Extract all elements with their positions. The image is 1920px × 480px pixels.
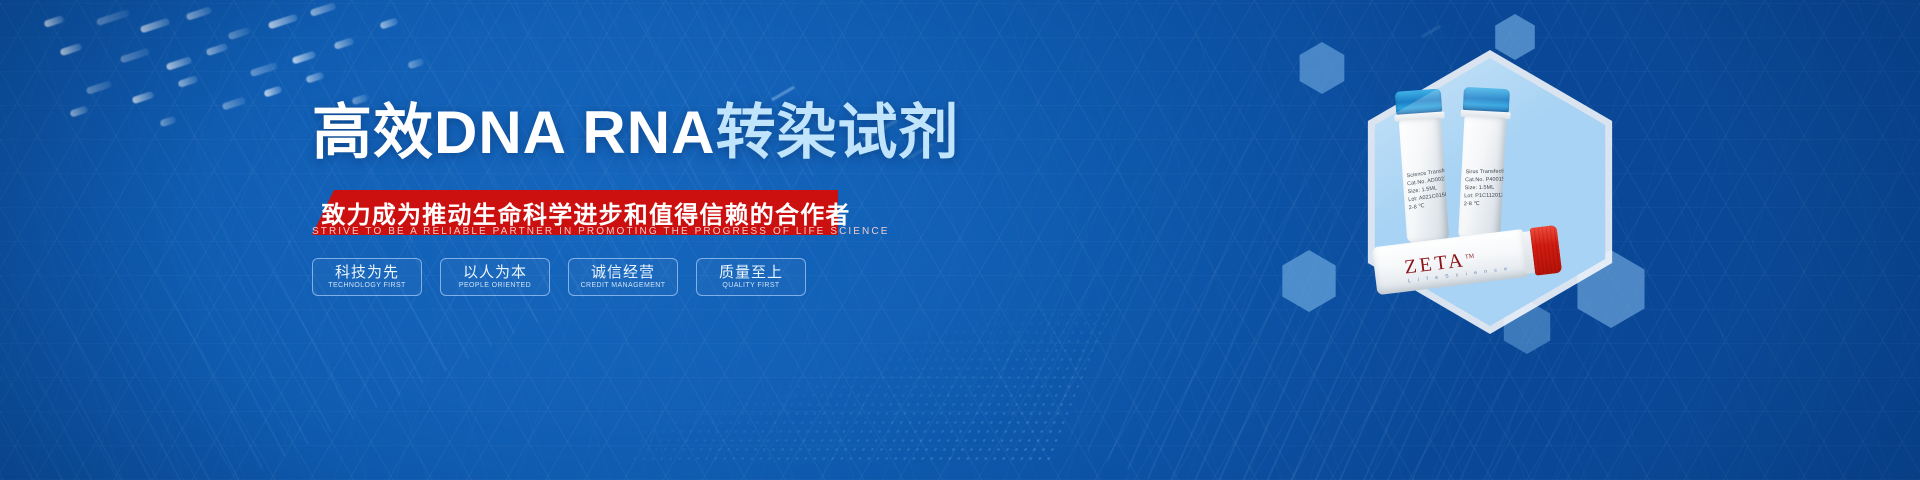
title-segment-cn-suffix: 转染试剂 <box>715 99 959 166</box>
pill-label-en: QUALITY FIRST <box>722 281 779 291</box>
vial-label-left: Science Transfection Cat.No. AD00215 Siz… <box>1406 170 1443 211</box>
vial-label-line: 2-8 ℃ <box>1464 201 1498 209</box>
slogan-en: STRIVE TO BE A RELIABLE PARTNER IN PROMO… <box>312 226 838 237</box>
pill-label-cn: 质量至上 <box>719 264 783 281</box>
pill-label-cn: 以人为本 <box>463 264 527 281</box>
pill-credit-management[interactable]: 诚信经营 CREDIT MANAGEMENT <box>568 258 678 296</box>
product-vials: Science Transfection Cat.No. AD00215 Siz… <box>1356 58 1624 326</box>
vial-label-line: Sirus Transfection <box>1465 169 1499 177</box>
value-pill-row: 科技为先 TECHNOLOGY FIRST 以人为本 PEOPLE ORIENT… <box>312 258 872 298</box>
product-image-area: Science Transfection Cat.No. AD00215 Siz… <box>1160 0 1920 480</box>
vial-label-line: Size: 1.5ML <box>1465 185 1499 193</box>
pill-label-cn: 诚信经营 <box>591 264 655 281</box>
title-segment-cn-prefix: 高效 <box>312 99 434 166</box>
vial-left: Science Transfection Cat.No. AD00215 Siz… <box>1395 89 1451 244</box>
vial-label-line: Cat.No. P40015B <box>1465 177 1499 185</box>
vial-label-right: Sirus Transfection Cat.No. P40015B Size:… <box>1464 168 1500 209</box>
banner-text-content: 高效DNA RNA转染试剂 致力成为推动生命科学进步和值得信赖的合作者 STRI… <box>0 0 980 480</box>
pill-technology-first[interactable]: 科技为先 TECHNOLOGY FIRST <box>312 258 422 296</box>
title-segment-latin: DNA RNA <box>434 99 715 166</box>
promo-banner: 高效DNA RNA转染试剂 致力成为推动生命科学进步和值得信赖的合作者 STRI… <box>0 0 1920 480</box>
pill-people-oriented[interactable]: 以人为本 PEOPLE ORIENTED <box>440 258 550 296</box>
vial-right: Sirus Transfection Cat.No. P40015B Size:… <box>1456 87 1510 241</box>
page-title: 高效DNA RNA转染试剂 <box>312 100 959 166</box>
pill-label-en: PEOPLE ORIENTED <box>459 281 531 291</box>
vial-body: Science Transfection Cat.No. AD00215 Siz… <box>1399 118 1449 244</box>
vial-body: Sirus Transfection Cat.No. P40015B Size:… <box>1458 116 1506 241</box>
vial-lying: ZETATM L i f e S c i e n c e <box>1372 225 1562 295</box>
hexagon-decoration <box>1296 42 1348 94</box>
hexagon-decoration <box>1278 250 1340 312</box>
pill-quality-first[interactable]: 质量至上 QUALITY FIRST <box>696 258 806 296</box>
trademark-symbol: TM <box>1465 253 1475 260</box>
vial-cap-red <box>1530 225 1563 276</box>
pill-label-cn: 科技为先 <box>335 264 399 281</box>
pill-label-en: TECHNOLOGY FIRST <box>328 281 405 291</box>
vial-label-line: Lot: P1C1120123 <box>1464 193 1498 201</box>
hexagon-decoration <box>1492 14 1538 60</box>
pill-label-en: CREDIT MANAGEMENT <box>581 281 666 291</box>
